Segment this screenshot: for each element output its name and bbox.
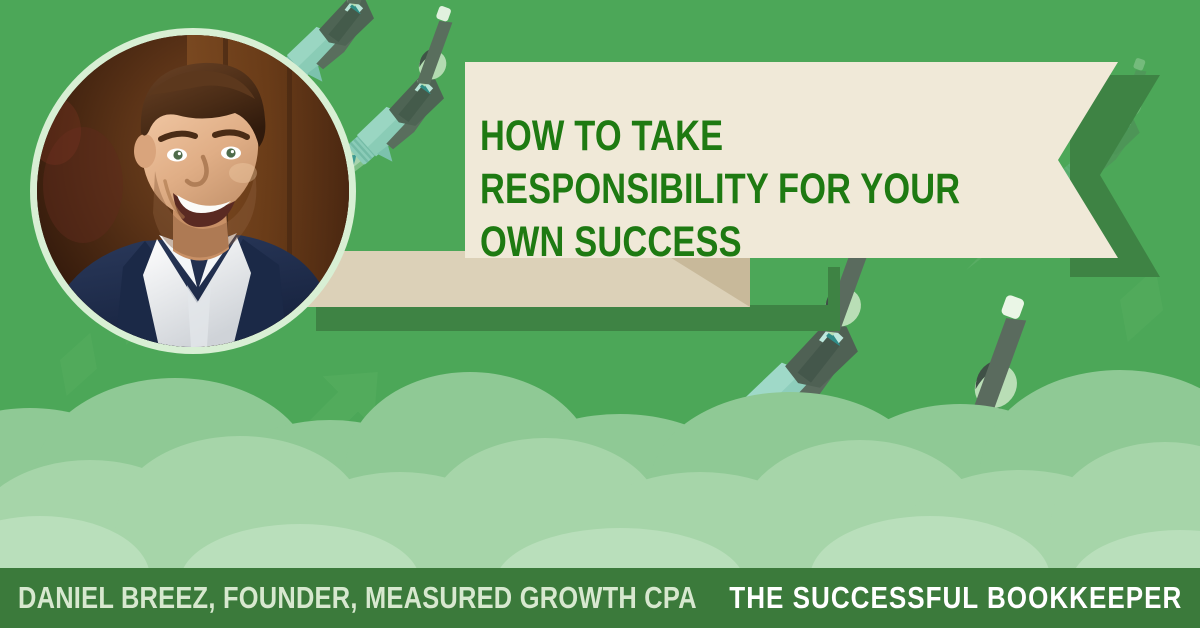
speaker-credit: Daniel Breez, Founder, Measured Growth C… [18,580,697,616]
avatar [30,28,356,354]
speaker-photo [37,35,349,347]
page-title: How to take responsibility for your own … [480,110,992,269]
footer-bar: Daniel Breez, Founder, Measured Growth C… [0,568,1200,628]
brand-title: The Successful Bookkeeper [729,580,1182,616]
title-ribbon: How to take responsibility for your own … [280,55,1200,325]
episode-cover-poster: How to take responsibility for your own … [0,0,1200,628]
